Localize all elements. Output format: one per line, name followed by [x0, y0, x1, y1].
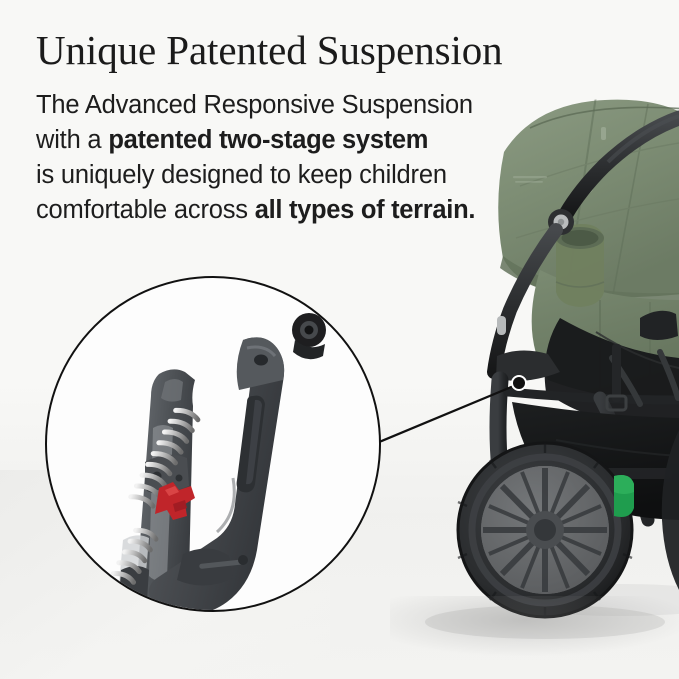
suspension-callout-circle [45, 276, 381, 612]
cup-holder [556, 224, 604, 307]
body-paragraph: The Advanced Responsive Suspension with … [36, 88, 506, 228]
body-line-3: is uniquely designed to keep children [36, 158, 506, 193]
seat-attach-clamp [640, 311, 678, 340]
mount-bracket [292, 313, 326, 359]
body-line-2-emphasis: patented two-stage system [108, 126, 428, 154]
marketing-graphic: Unique Patented Suspension The Advanced … [0, 0, 679, 679]
body-line-2-prefix: with a [36, 126, 108, 154]
washer-ring [339, 320, 355, 336]
body-line-1: The Advanced Responsive Suspension [36, 88, 506, 123]
canopy-zipper-pull [601, 127, 606, 140]
body-line-4: comfortable across all types of terrain. [36, 193, 506, 228]
brake-pedal [614, 475, 634, 517]
frame-release-button [497, 316, 506, 335]
arm-bolt-hole [254, 355, 268, 366]
body-line-4-prefix: comfortable across [36, 196, 255, 224]
body-line-4-emphasis: all types of terrain. [255, 196, 475, 224]
rear-wheel [458, 443, 632, 617]
page-title: Unique Patented Suspension [36, 27, 503, 74]
body-line-2: with a patented two-stage system [36, 123, 506, 158]
